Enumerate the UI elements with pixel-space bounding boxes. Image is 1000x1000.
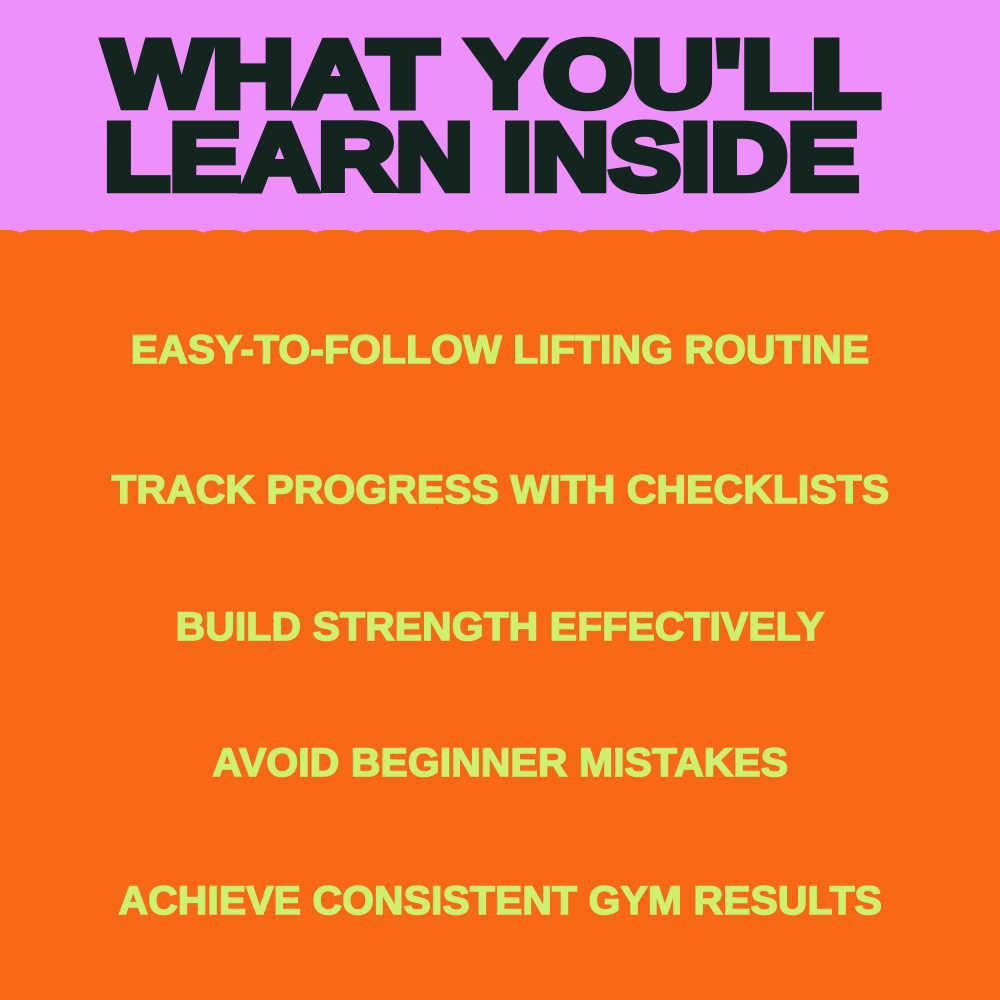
list-item-label-4: AVOID BEGINNER MISTAKES [212,743,788,783]
list-item: BUILD STRENGTH EFFECTIVELY [0,607,1000,647]
page-title: WHAT YOU'LL LEARN INSIDE [104,34,924,191]
list-item-label-3: BUILD STRENGTH EFFECTIVELY [176,607,825,647]
list-item: EASY-TO-FOLLOW LIFTING ROUTINE [0,330,1000,370]
list-item: TRACK PROGRESS WITH CHECKLISTS [0,470,1000,510]
page-title-line-2: LEARN INSIDE [104,117,1000,197]
page-title-line-1: WHAT YOU'LL [104,34,1000,114]
benefits-list: EASY-TO-FOLLOW LIFTING ROUTINE TRACK PRO… [0,226,1000,1000]
header-band: WHAT YOU'LL LEARN INSIDE [0,0,1000,230]
list-item-label-5: ACHIEVE CONSISTENT GYM RESULTS [118,881,882,921]
list-item-label-2: TRACK PROGRESS WITH CHECKLISTS [111,470,889,510]
list-item: AVOID BEGINNER MISTAKES [0,743,1000,783]
scalloped-edge-decoration [0,226,1000,282]
poster-canvas: WHAT YOU'LL LEARN INSIDE EASY-TO-FOLLOW … [0,0,1000,1000]
list-item-label-1: EASY-TO-FOLLOW LIFTING ROUTINE [131,330,870,370]
list-item: ACHIEVE CONSISTENT GYM RESULTS [0,881,1000,921]
